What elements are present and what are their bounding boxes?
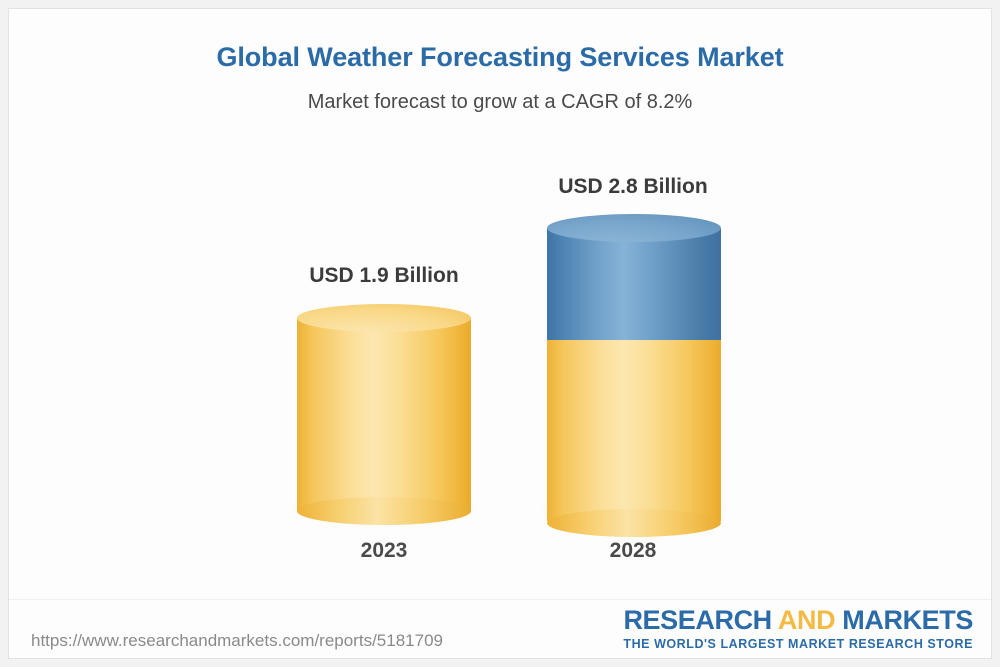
logo-wordmark: RESEARCH AND MARKETS bbox=[623, 606, 973, 634]
bar-segment-growth-2028 bbox=[547, 214, 721, 340]
bar-cylinder-2028[interactable] bbox=[547, 214, 721, 521]
chart-card: Global Weather Forecasting Services Mark… bbox=[8, 8, 992, 659]
bar-value-label-2023: USD 1.9 Billion bbox=[234, 264, 534, 288]
report-url-link[interactable]: https://www.researchandmarkets.com/repor… bbox=[31, 631, 443, 651]
bar-value-label-2028: USD 2.8 Billion bbox=[483, 175, 783, 199]
logo-word-markets: MARKETS bbox=[842, 605, 973, 635]
logo-tagline: THE WORLD'S LARGEST MARKET RESEARCH STOR… bbox=[623, 637, 973, 651]
logo-word-and: AND bbox=[778, 605, 835, 635]
researchandmarkets-logo[interactable]: RESEARCH AND MARKETS THE WORLD'S LARGEST… bbox=[623, 606, 973, 651]
footer-divider bbox=[9, 599, 992, 600]
bar-category-label-2028: 2028 bbox=[483, 539, 783, 563]
bar-segment-base-2023 bbox=[297, 304, 471, 521]
bar-segment-base-2028 bbox=[547, 326, 721, 521]
bar-cylinder-2023[interactable] bbox=[297, 304, 471, 521]
logo-word-research: RESEARCH bbox=[623, 605, 771, 635]
chart-plot-area: USD 1.9 Billion 2023 USD 2.8 Billion bbox=[9, 9, 992, 589]
